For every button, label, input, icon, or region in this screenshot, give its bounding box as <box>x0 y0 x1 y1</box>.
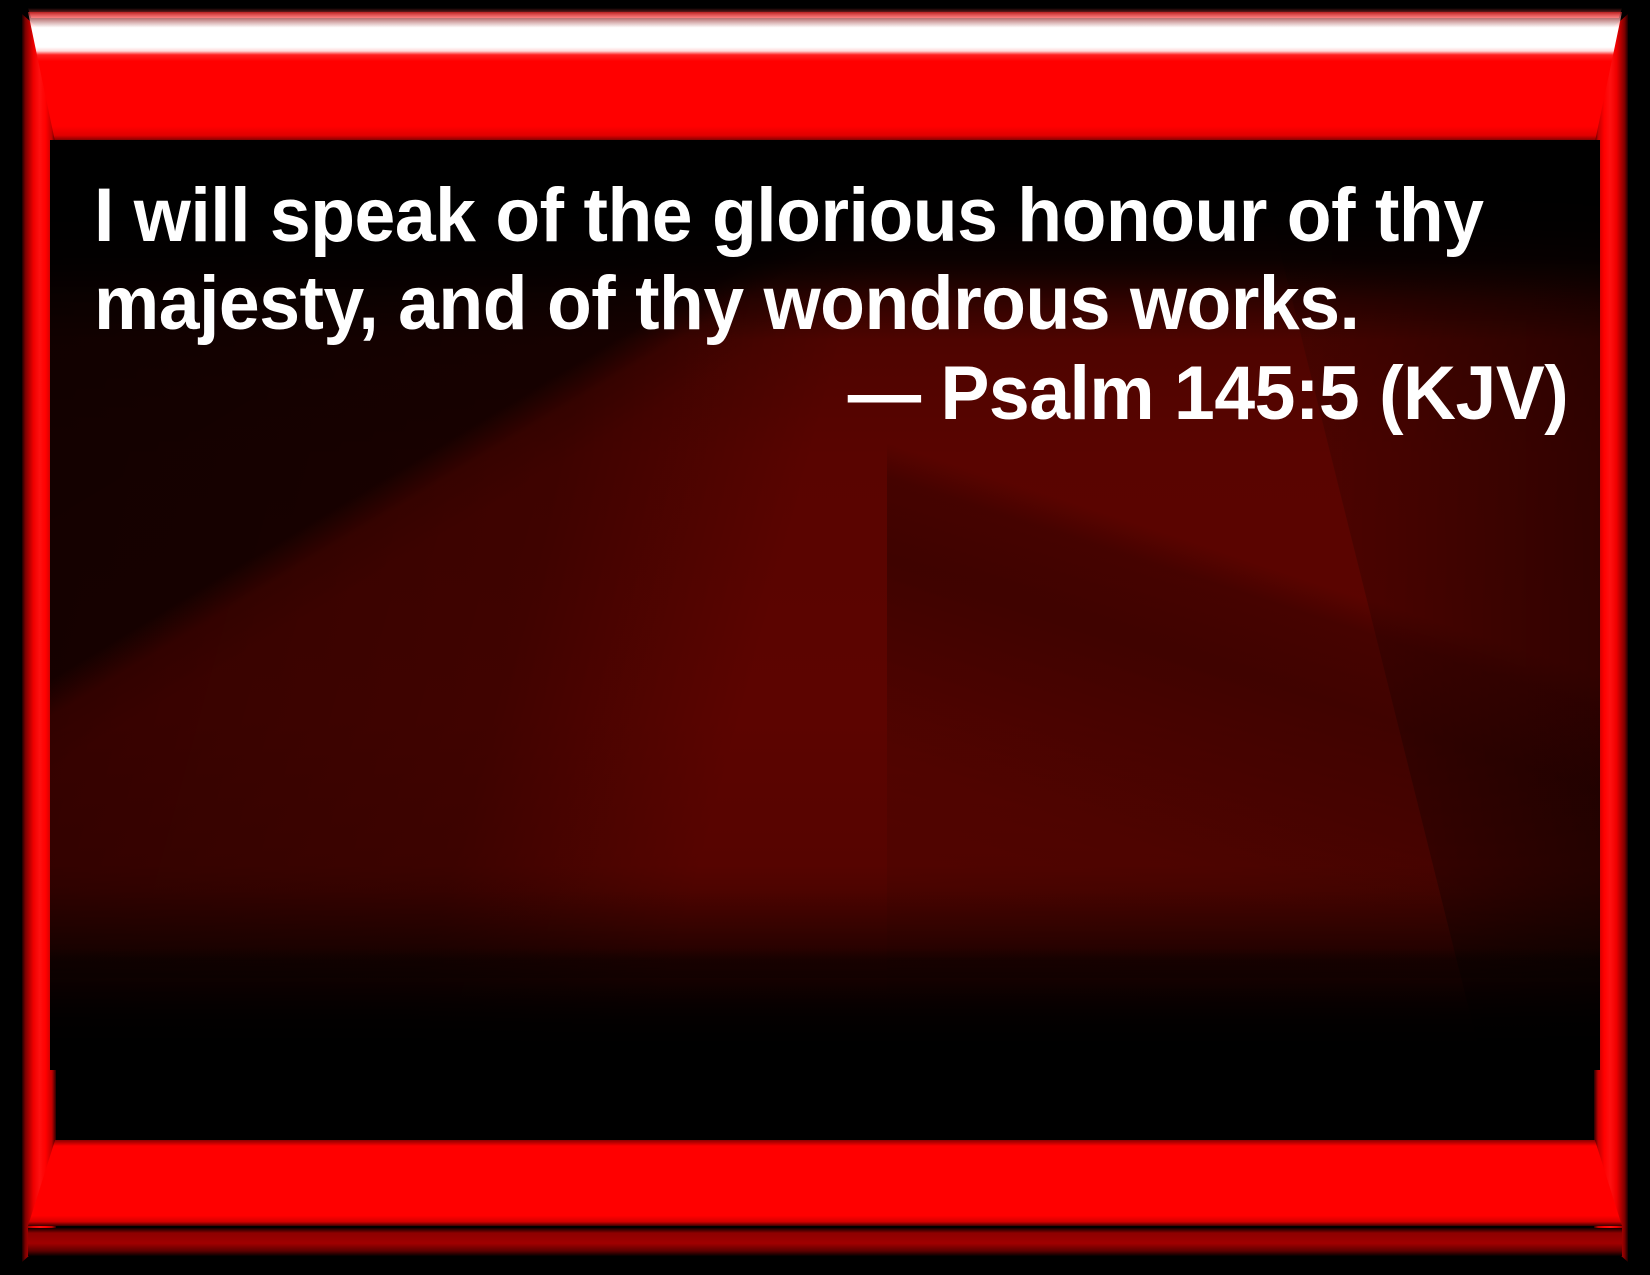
slide-frame-top-bevel <box>28 12 1622 142</box>
background-bottom-shade <box>50 890 1600 1070</box>
verse-line-1: I will speak of the glorious honour of t… <box>94 172 1522 260</box>
slide-frame-bottom-bevel <box>28 1140 1622 1226</box>
scripture-slide: I will speak of the glorious honour of t… <box>0 0 1650 1275</box>
slide-frame-bottom-strip <box>28 1228 1622 1256</box>
verse-text-block: I will speak of the glorious honour of t… <box>94 172 1574 440</box>
verse-line-2: majesty, and of thy wondrous works. <box>94 260 1522 348</box>
verse-reference: — Psalm 145:5 (KJV) <box>146 348 1574 440</box>
slide-content-area: I will speak of the glorious honour of t… <box>50 140 1600 1070</box>
